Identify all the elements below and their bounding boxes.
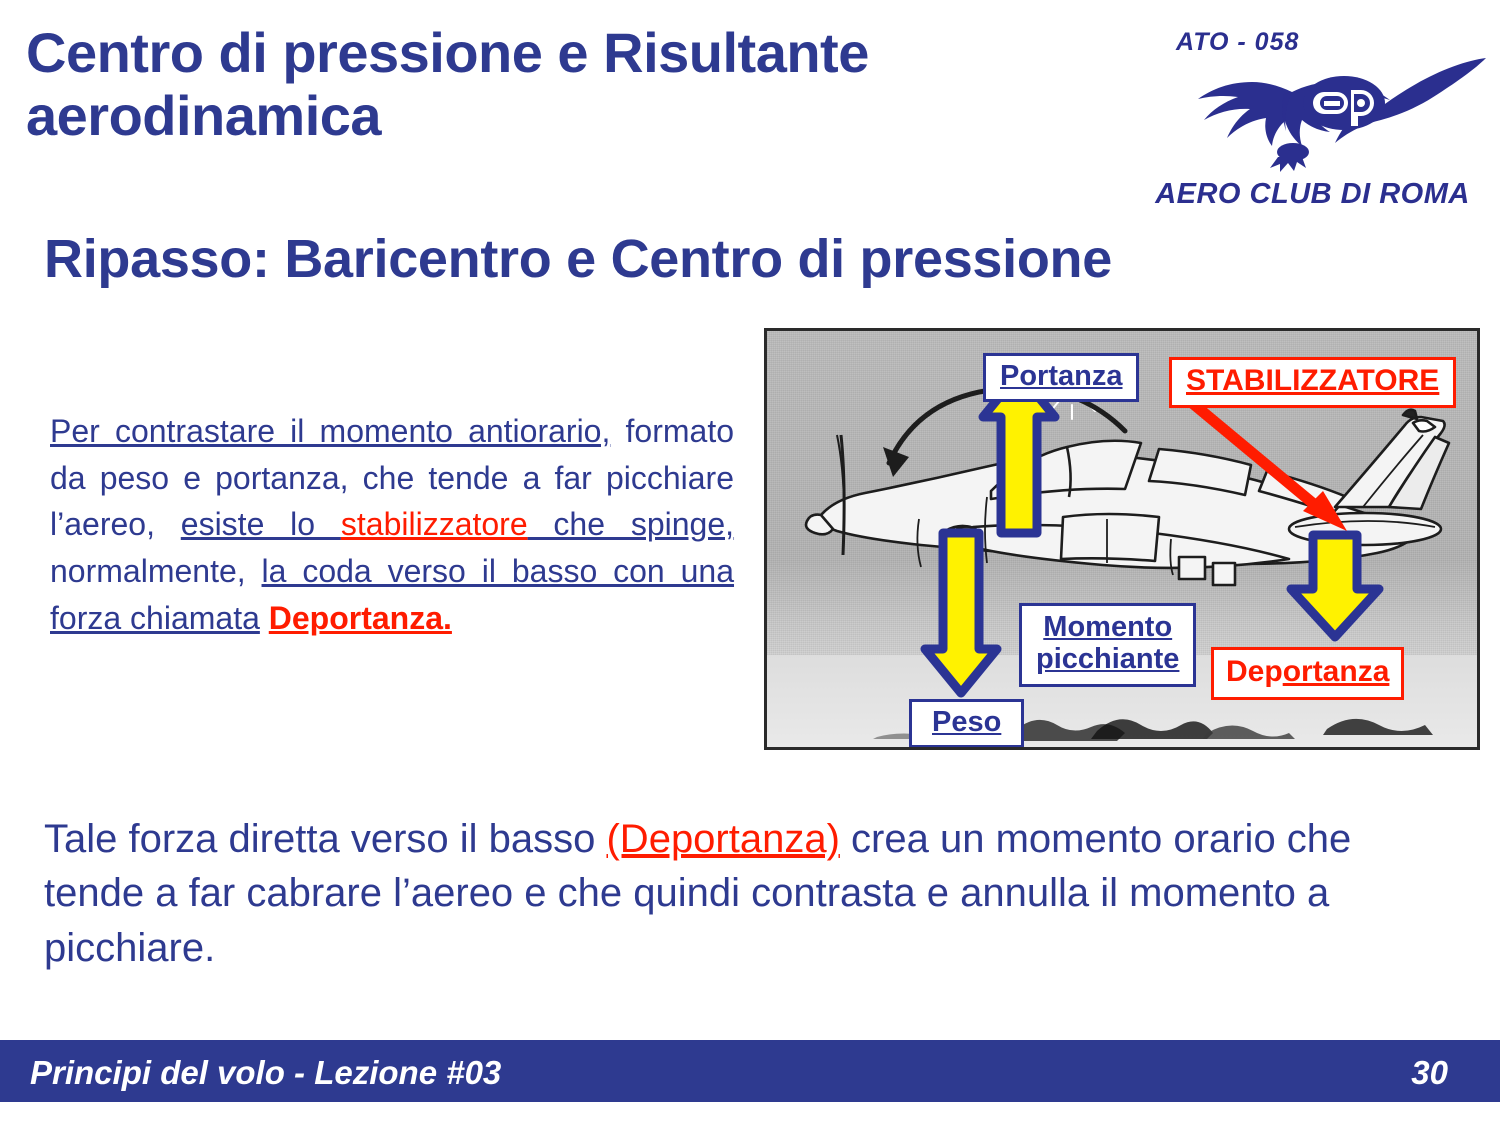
label-momento-line2: picchiante <box>1036 643 1179 675</box>
text-seg-deportanza: Deportanza. <box>269 600 452 636</box>
label-deportanza: Deportanza <box>1211 647 1404 700</box>
bottom-body-paragraph: Tale forza diretta verso il basso (Depor… <box>44 812 1456 975</box>
footer-title: Principi del volo - Lezione #03 <box>30 1054 501 1092</box>
label-momento-line1: Momento <box>1043 611 1172 643</box>
label-portanza-text: Portanza <box>1000 360 1122 392</box>
aircraft-forces-diagram: Portanza STABILIZZATORE Momento picchian… <box>764 328 1480 750</box>
label-stabilizzatore: STABILIZZATORE <box>1169 357 1456 408</box>
ato-code-label: ATO - 058 <box>1176 28 1299 57</box>
text-seg-stabilizzatore: stabilizzatore <box>341 506 528 542</box>
left-body-paragraph: Per contrastare il momento antiorario, f… <box>50 408 734 642</box>
label-deportanza-part1: Dep <box>1226 655 1283 688</box>
org-name-label: AERO CLUB DI ROMA <box>1140 178 1485 211</box>
text-seg-che-spinge: che spinge, <box>528 506 734 542</box>
label-momento-picchiante: Momento picchiante <box>1019 603 1196 687</box>
footer-bar: Principi del volo - Lezione #03 30 <box>0 1040 1500 1102</box>
label-peso-text: Peso <box>932 706 1001 738</box>
label-deportanza-part2: ortanza <box>1283 655 1390 688</box>
page-number: 30 <box>1411 1054 1448 1092</box>
label-stabilizzatore-text: STABILIZZATORE <box>1186 364 1439 397</box>
slide-root: Centro di pressione e Risultante aerodin… <box>0 0 1500 1125</box>
page-title: Centro di pressione e Risultante aerodin… <box>26 22 1086 147</box>
text-seg-space <box>260 600 269 636</box>
text-seg-esiste: esiste lo <box>181 506 341 542</box>
label-portanza: Portanza <box>983 353 1139 402</box>
aero-club-logo: ATO - 058 AERO <box>1140 18 1485 218</box>
eagle-logo-icon <box>1168 56 1488 176</box>
label-peso: Peso <box>909 699 1024 748</box>
section-subtitle: Ripasso: Baricentro e Centro di pression… <box>44 228 1464 290</box>
bottom-seg-1: Tale forza diretta verso il basso <box>44 817 606 861</box>
text-seg-antiorario: Per contrastare il momento antiorario, <box>50 413 610 449</box>
bottom-seg-deportanza: (Deportanza) <box>606 817 839 861</box>
text-seg-normalmente: normalmente, <box>50 553 262 589</box>
